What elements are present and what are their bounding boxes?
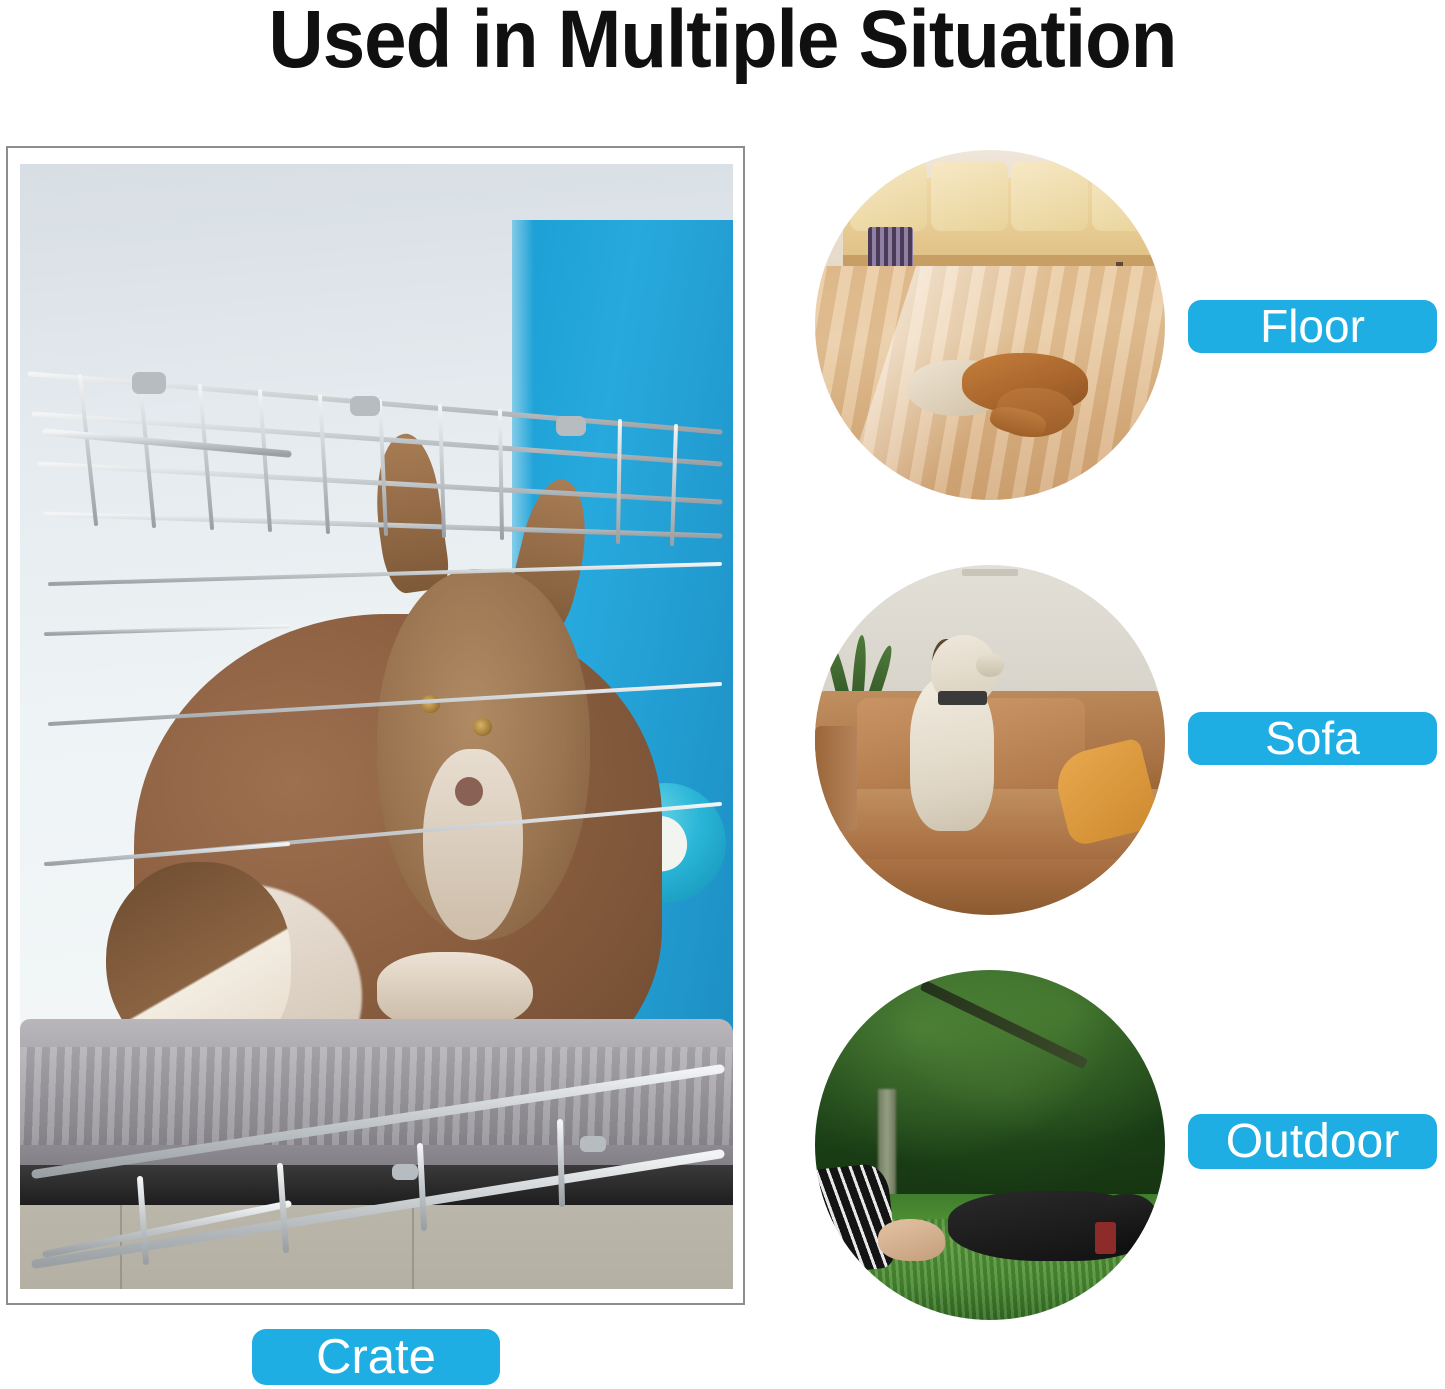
floor-scene-cushion xyxy=(1092,161,1162,231)
situation-image-floor xyxy=(815,150,1165,500)
floor-scene-cushion xyxy=(850,161,927,231)
outdoor-scene-dog-collar xyxy=(1095,1222,1116,1254)
situation-image-sofa xyxy=(815,565,1165,915)
badge-sofa: Sofa xyxy=(1188,712,1437,765)
outdoor-scene-hand xyxy=(878,1219,945,1261)
badge-crate: Crate xyxy=(252,1329,500,1385)
sofa-scene-dog-snout xyxy=(976,653,1004,678)
sofa-scene-armrest xyxy=(815,726,857,831)
badge-floor: Floor xyxy=(1188,300,1437,353)
crate-photo-frame xyxy=(6,146,745,1305)
floor-scene-cushion xyxy=(1011,161,1088,231)
sofa-scene-seat-front xyxy=(815,859,1165,915)
page-title: Used in Multiple Situation xyxy=(51,0,1395,86)
sofa-scene-dog-collar xyxy=(938,691,987,705)
outdoor-scene-striped-sleeve xyxy=(815,1162,897,1274)
crate-photo xyxy=(20,164,733,1289)
situation-image-outdoor xyxy=(815,970,1165,1320)
wire-crate-overlay xyxy=(20,164,733,1289)
badge-outdoor: Outdoor xyxy=(1188,1114,1437,1169)
floor-scene-cushion xyxy=(931,161,1008,231)
sofa-scene-vent xyxy=(962,569,1018,576)
